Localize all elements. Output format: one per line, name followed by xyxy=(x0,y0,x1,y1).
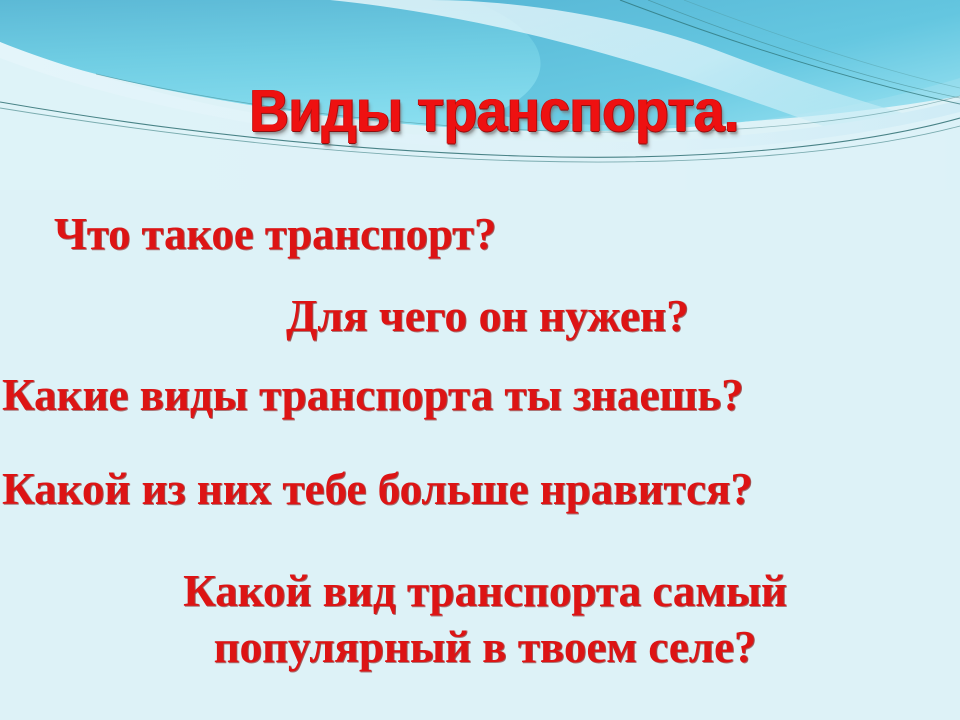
wave-hairline-6 xyxy=(684,0,960,88)
question-line-4: Какой из них тебе больше нравится? xyxy=(2,466,753,514)
presentation-slide: Виды транспорта. Что такое транспорт? Дл… xyxy=(0,0,960,720)
question-line-5: Какой вид транспорта самый xyxy=(0,568,960,616)
slide-title: Виды транспорта. xyxy=(221,82,738,141)
question-line-1: Что такое транспорт? xyxy=(54,210,496,259)
title-block: Виды транспорта. xyxy=(0,82,960,141)
question-line-6: популярный в твоем селе? xyxy=(0,624,960,672)
question-line-2: Для чего он нужен? xyxy=(286,292,689,341)
question-block-5: Какой вид транспорта самый популярный в … xyxy=(0,568,960,671)
question-line-3: Какие виды транспорта ты знаешь? xyxy=(2,372,744,420)
